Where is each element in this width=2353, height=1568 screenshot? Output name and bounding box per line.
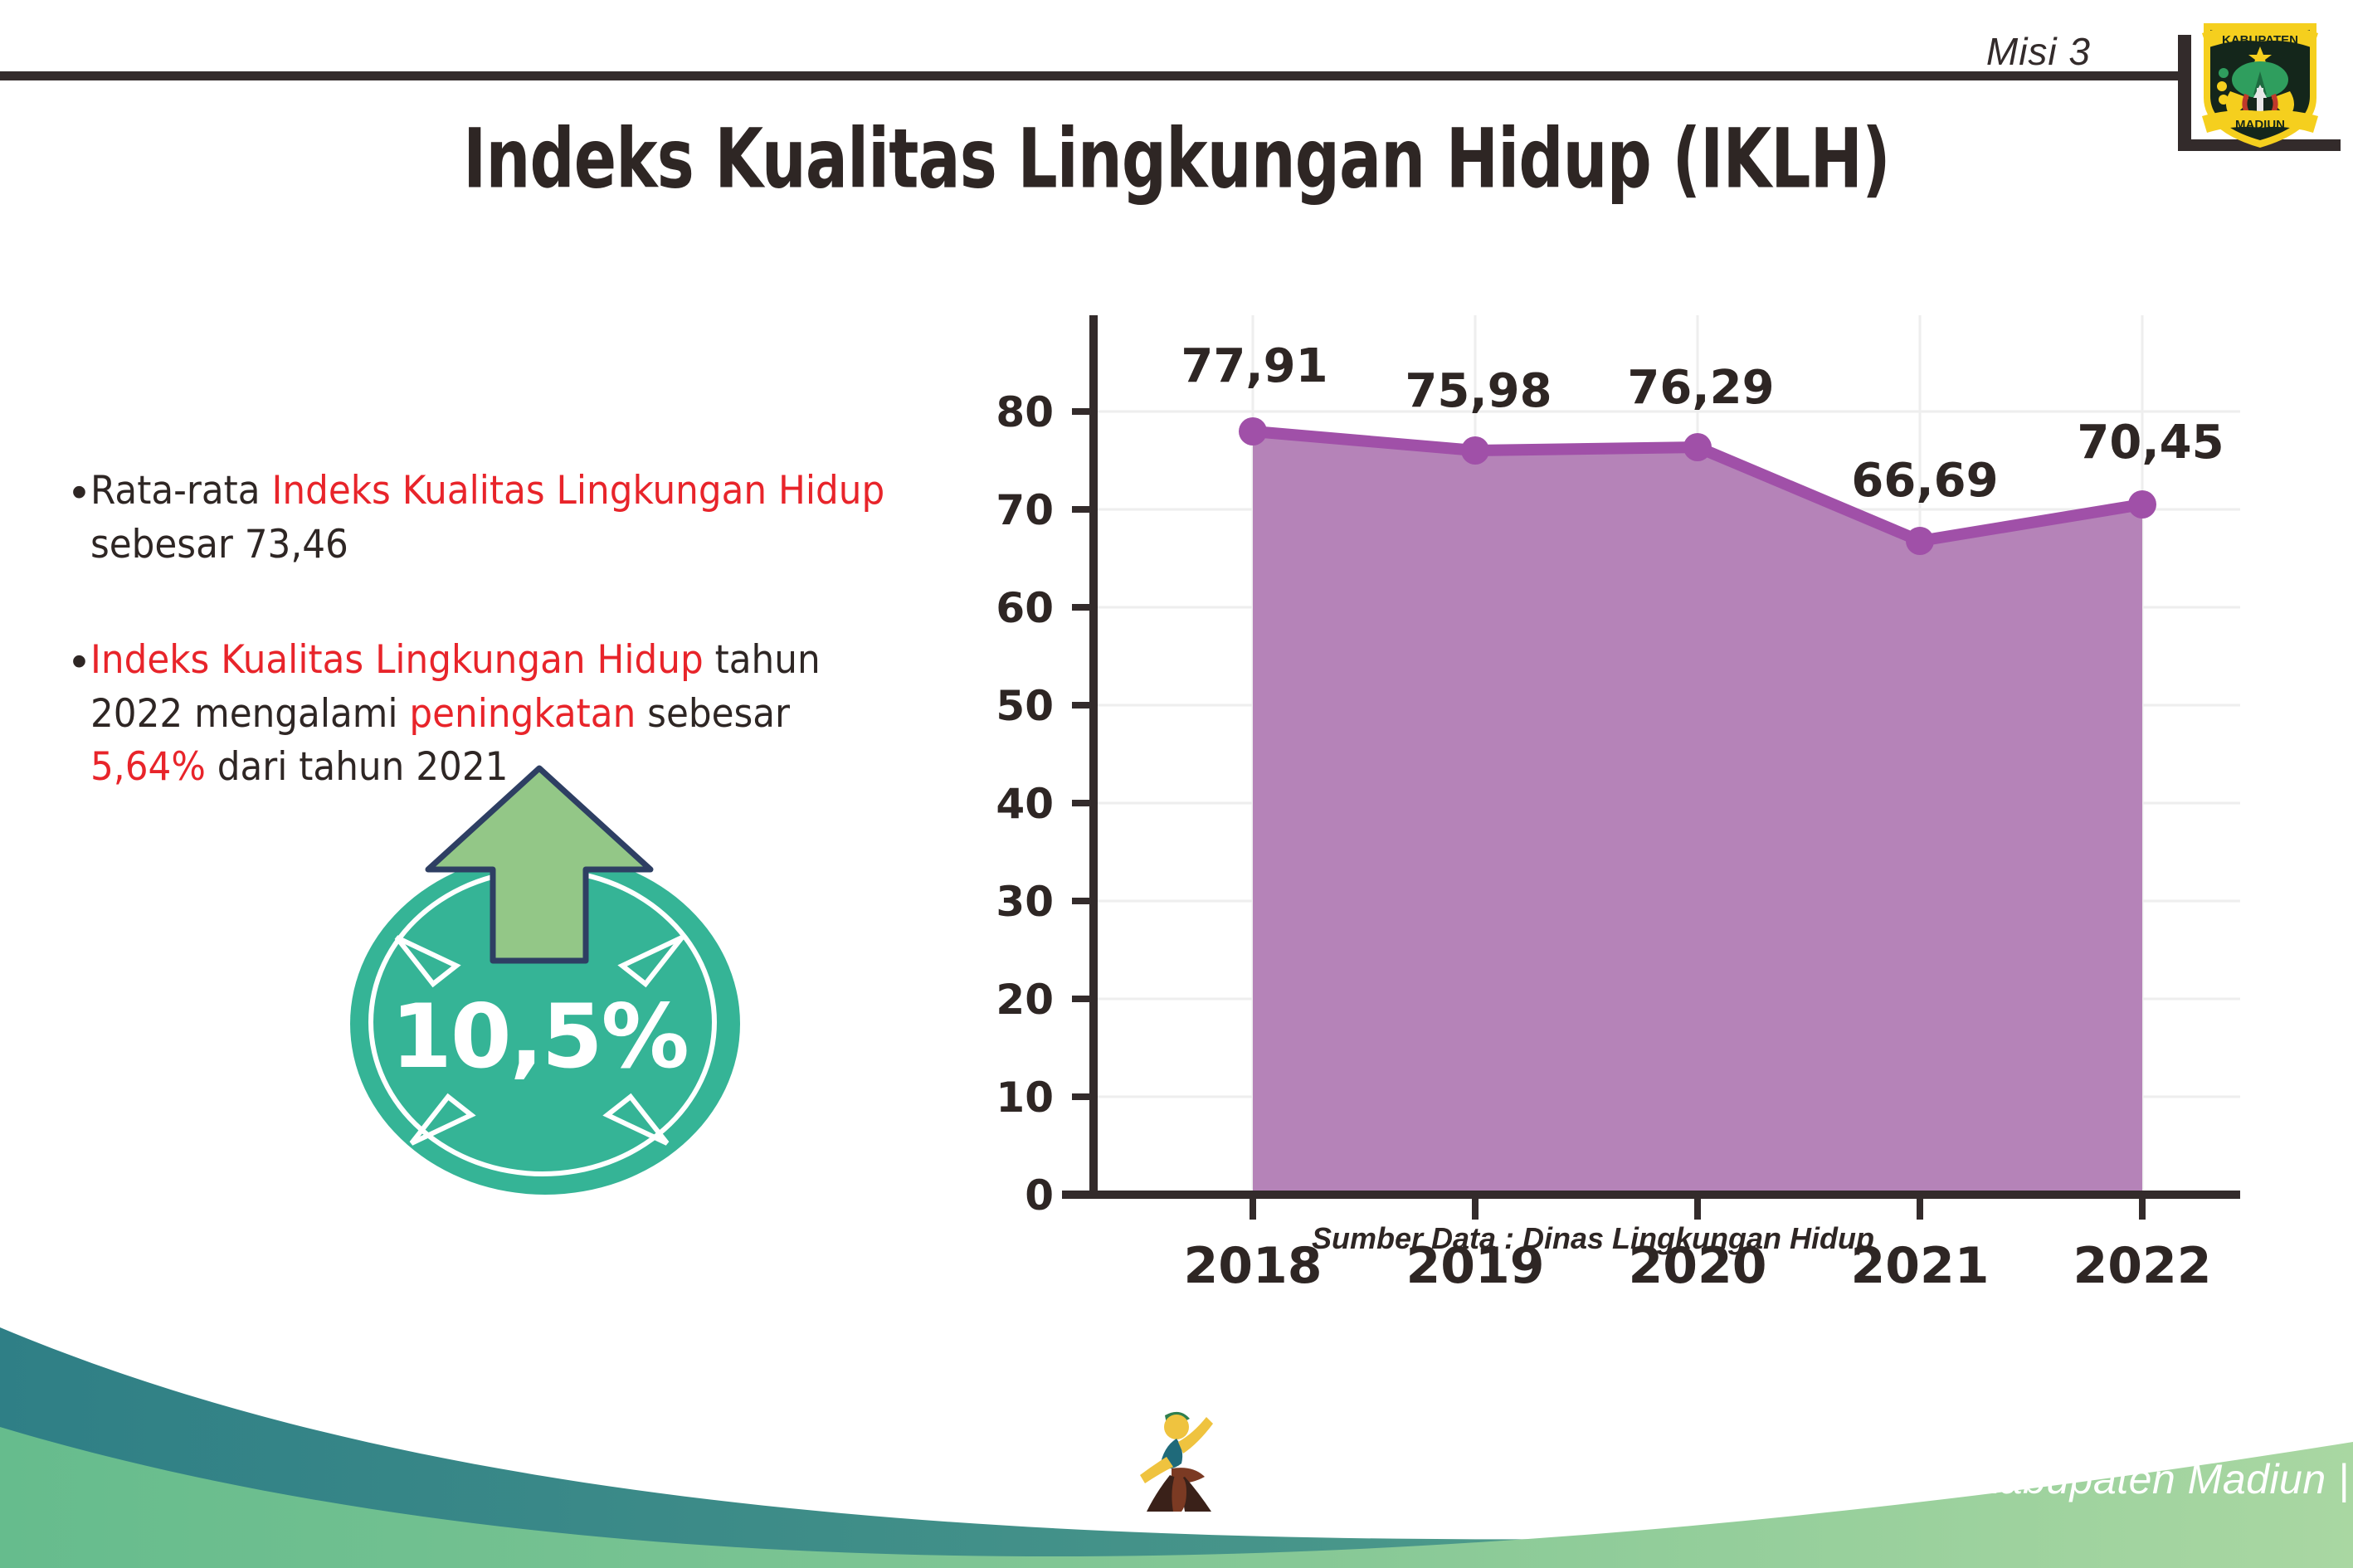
- bullet-1-suffix: sebesar 73,46: [90, 522, 348, 567]
- footer-banner: Media Infografis Data Statistik Sektoral…: [0, 1294, 2353, 1568]
- iklh-area-chart: 0 10 20 30 40 50 60 70 80 2018 2019 2020…: [946, 282, 2240, 1286]
- misi-label: Misi 3: [1986, 29, 2091, 74]
- bullet-1-highlight: Indeks Kualitas Lingkungan Hidup: [271, 468, 884, 514]
- dancer-logo-icon: [1135, 1405, 1226, 1522]
- footer-caption: Media Infografis Data Statistik Sektoral…: [1228, 1455, 2350, 1503]
- y-tick-label: 10: [996, 1074, 1054, 1122]
- badge-percentage-value: 10,5%: [332, 986, 747, 1088]
- data-point-label: 66,69: [1851, 454, 1998, 508]
- chart-area-fill: [1253, 431, 2142, 1195]
- y-tick-label: 0: [1025, 1171, 1054, 1220]
- svg-text:MADIUN: MADIUN: [2235, 118, 2285, 132]
- chart-source-caption: Sumber Data : Dinas Lingkungan Hidup: [946, 1221, 2240, 1256]
- y-tick-label: 70: [996, 486, 1054, 534]
- bullet-2-part5: 5,64%: [90, 744, 206, 790]
- kabupaten-madiun-emblem-icon: KABUPATEN MADIUN: [2197, 12, 2323, 151]
- bullet-2-part1: Indeks Kualitas Lingkungan Hidup: [90, 637, 704, 683]
- bullet-2-part3: peningkatan: [409, 691, 636, 737]
- bullet-text-average: Rata-rata Indeks Kualitas Lingkungan Hid…: [90, 465, 890, 572]
- data-point-label: 70,45: [2077, 416, 2224, 470]
- increase-badge: 10,5%: [332, 763, 747, 1211]
- data-point-label: 76,29: [1627, 361, 1774, 415]
- bullet-dot-icon: •: [71, 470, 87, 514]
- y-tick-label: 30: [996, 878, 1054, 926]
- y-tick-label: 80: [996, 388, 1054, 436]
- header-divider-line: [0, 71, 2184, 80]
- svg-text:KABUPATEN: KABUPATEN: [2222, 33, 2298, 47]
- bullet-1-prefix: Rata-rata: [90, 468, 271, 514]
- bullet-2-part4: sebesar: [636, 691, 790, 737]
- y-tick-label: 60: [996, 584, 1054, 632]
- bullet-item-average: • Rata-rata Indeks Kualitas Lingkungan H…: [71, 465, 951, 572]
- y-tick-label: 50: [996, 682, 1054, 730]
- y-tick-label: 40: [996, 780, 1054, 828]
- y-tick-label: 20: [996, 976, 1054, 1024]
- data-point-label: 75,98: [1405, 364, 1552, 418]
- bullet-dot-icon: •: [71, 639, 87, 684]
- page-title: Indeks Kualitas Lingkungan Hidup (IKLH): [165, 111, 2189, 207]
- data-point-label: 77,91: [1181, 339, 1328, 393]
